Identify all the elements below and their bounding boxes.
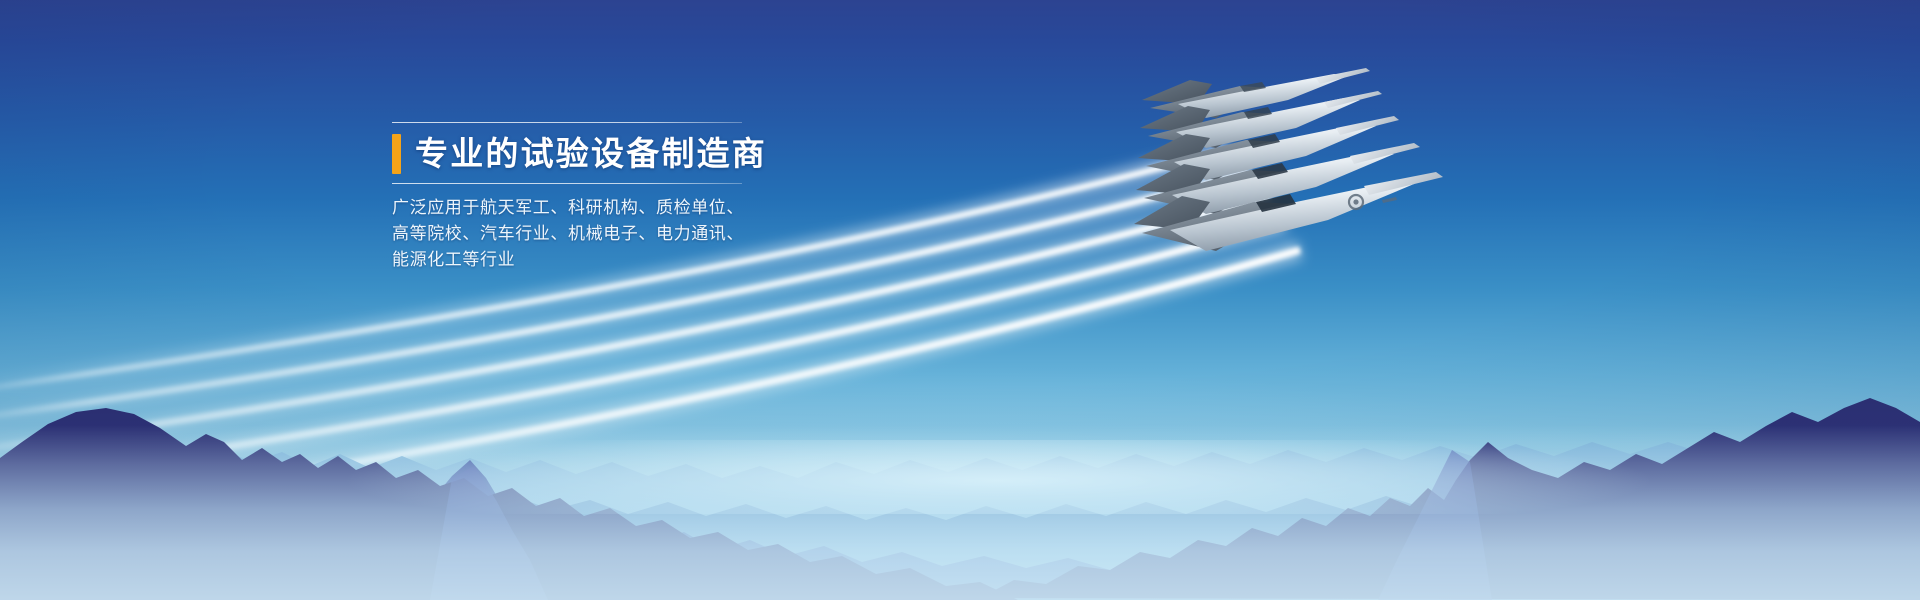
subtitle-line-3: 能源化工等行业 [392, 247, 742, 273]
mountain-range [0, 350, 1920, 600]
subtitle-line-1: 广泛应用于航天军工、科研机构、质检单位、 [392, 195, 742, 221]
accent-bar-icon [392, 134, 401, 174]
subtitle: 广泛应用于航天军工、科研机构、质检单位、 高等院校、汽车行业、机械电子、电力通讯… [392, 195, 742, 273]
subtitle-line-2: 高等院校、汽车行业、机械电子、电力通讯、 [392, 221, 742, 247]
divider-middle [392, 183, 742, 184]
hero-banner: 专业的试验设备制造商 广泛应用于航天军工、科研机构、质检单位、 高等院校、汽车行… [0, 0, 1920, 600]
hero-copy: 专业的试验设备制造商 广泛应用于航天军工、科研机构、质检单位、 高等院校、汽车行… [392, 122, 742, 273]
page-title: 专业的试验设备制造商 [415, 134, 767, 174]
headline-row: 专业的试验设备制造商 [392, 134, 742, 174]
divider-top [392, 122, 742, 123]
fighter-jet-formation-icon [1120, 42, 1540, 272]
